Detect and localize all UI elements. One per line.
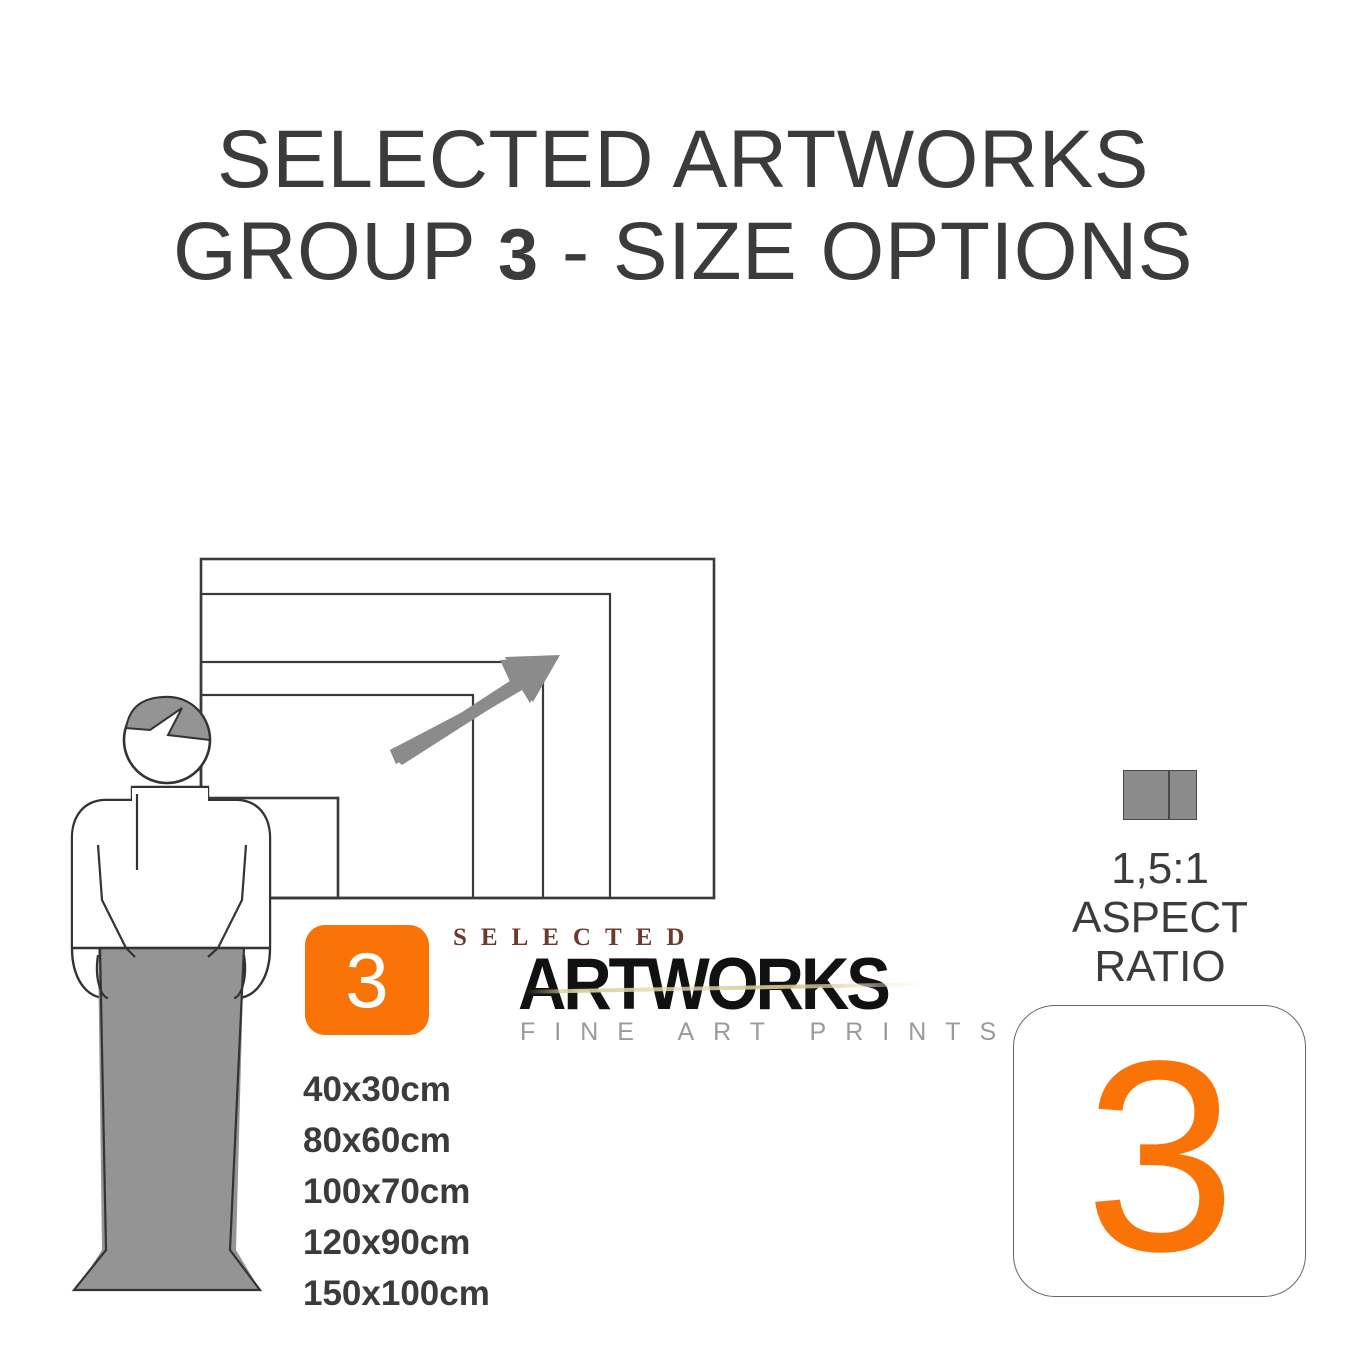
figure-shirt-fill	[73, 788, 269, 948]
growth-arrow-icon	[390, 656, 559, 764]
logo-artworks-word: ARTWORKS	[518, 950, 888, 1020]
size-options-list: 40x30cm 80x60cm 100x70cm 120x90cm 150x10…	[303, 1064, 490, 1319]
logo-badge-number: 3	[305, 925, 429, 1035]
group-number-card: 3	[1013, 1005, 1306, 1297]
aspect-ratio-text: 1,5:1 ASPECT RATIO	[1015, 844, 1305, 991]
title-line-2-prefix: GROUP	[173, 206, 498, 297]
aspect-ratio-divider	[1168, 771, 1170, 819]
page-title: SELECTED ARTWORKS GROUP 3 - SIZE OPTIONS	[0, 118, 1366, 293]
human-scale-figure	[40, 690, 305, 1320]
size-option: 40x30cm	[303, 1064, 490, 1115]
size-option: 150x100cm	[303, 1268, 490, 1319]
logo-badge: 3	[305, 925, 429, 1035]
growth-arrow-body	[393, 655, 560, 765]
size-option: 100x70cm	[303, 1166, 490, 1217]
brand-logo: 3 SELECTED ARTWORKS FINE ART PRINTS	[305, 922, 965, 1052]
title-line-2: GROUP 3 - SIZE OPTIONS	[0, 210, 1366, 294]
title-line-1: SELECTED ARTWORKS	[0, 118, 1366, 202]
title-line-2-suffix: - SIZE OPTIONS	[539, 206, 1193, 297]
logo-artworks-wrap: ARTWORKS	[518, 950, 938, 1020]
logo-tagline: FINE ART PRINTS	[520, 1018, 1015, 1047]
aspect-ratio-swatch-icon	[1123, 770, 1197, 820]
title-group-number: 3	[498, 215, 539, 295]
aspect-ratio-label-1: ASPECT	[1015, 893, 1305, 942]
size-option: 80x60cm	[303, 1115, 490, 1166]
group-number-value: 3	[1014, 1006, 1307, 1298]
aspect-ratio-value: 1,5:1	[1015, 844, 1305, 893]
size-option: 120x90cm	[303, 1217, 490, 1268]
aspect-ratio-block: 1,5:1 ASPECT RATIO	[1015, 770, 1305, 991]
aspect-ratio-label-2: RATIO	[1015, 942, 1305, 991]
